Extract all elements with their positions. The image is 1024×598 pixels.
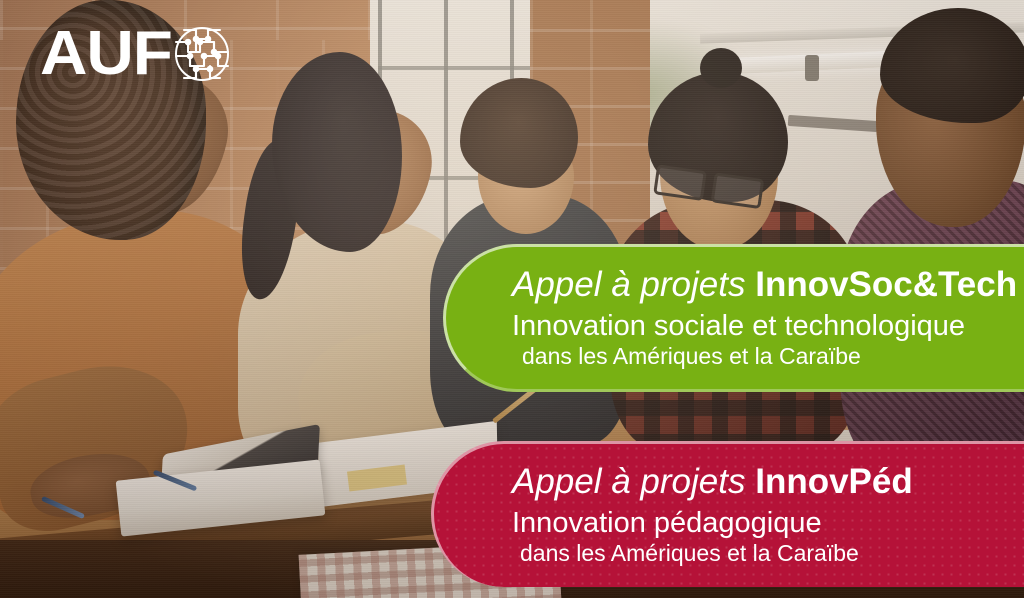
auf-network-globe-icon [170, 22, 234, 86]
banner-green-region: dans les Amériques et la Caraïbe [512, 344, 1024, 369]
auf-wordmark: AUF [40, 23, 172, 85]
ceiling-fixture [805, 55, 819, 81]
banner-red-region: dans les Amériques et la Caraïbe [512, 541, 1024, 566]
banner-innovsoctech[interactable]: Appel à projets InnovSoc&Tech Innovation… [443, 244, 1024, 392]
promo-poster: AUF [0, 0, 1024, 598]
banner-red-title-lead: Appel à projets [512, 462, 745, 501]
auf-logo: AUF [40, 22, 234, 86]
banner-green-title-program: InnovSoc&Tech [755, 265, 1017, 304]
banner-red-subtitle: Innovation pédagogique [512, 508, 1024, 539]
banner-green-subtitle: Innovation sociale et technologique [512, 311, 1024, 342]
banner-green-title: Appel à projets InnovSoc&Tech [512, 267, 1024, 304]
banner-red-title: Appel à projets InnovPéd [512, 464, 1024, 501]
banner-green-title-lead: Appel à projets [512, 265, 745, 304]
banner-red-title-program: InnovPéd [755, 462, 913, 501]
person-four-hair-bun [700, 48, 742, 88]
banner-innovped[interactable]: Appel à projets InnovPéd Innovation péda… [431, 441, 1024, 587]
